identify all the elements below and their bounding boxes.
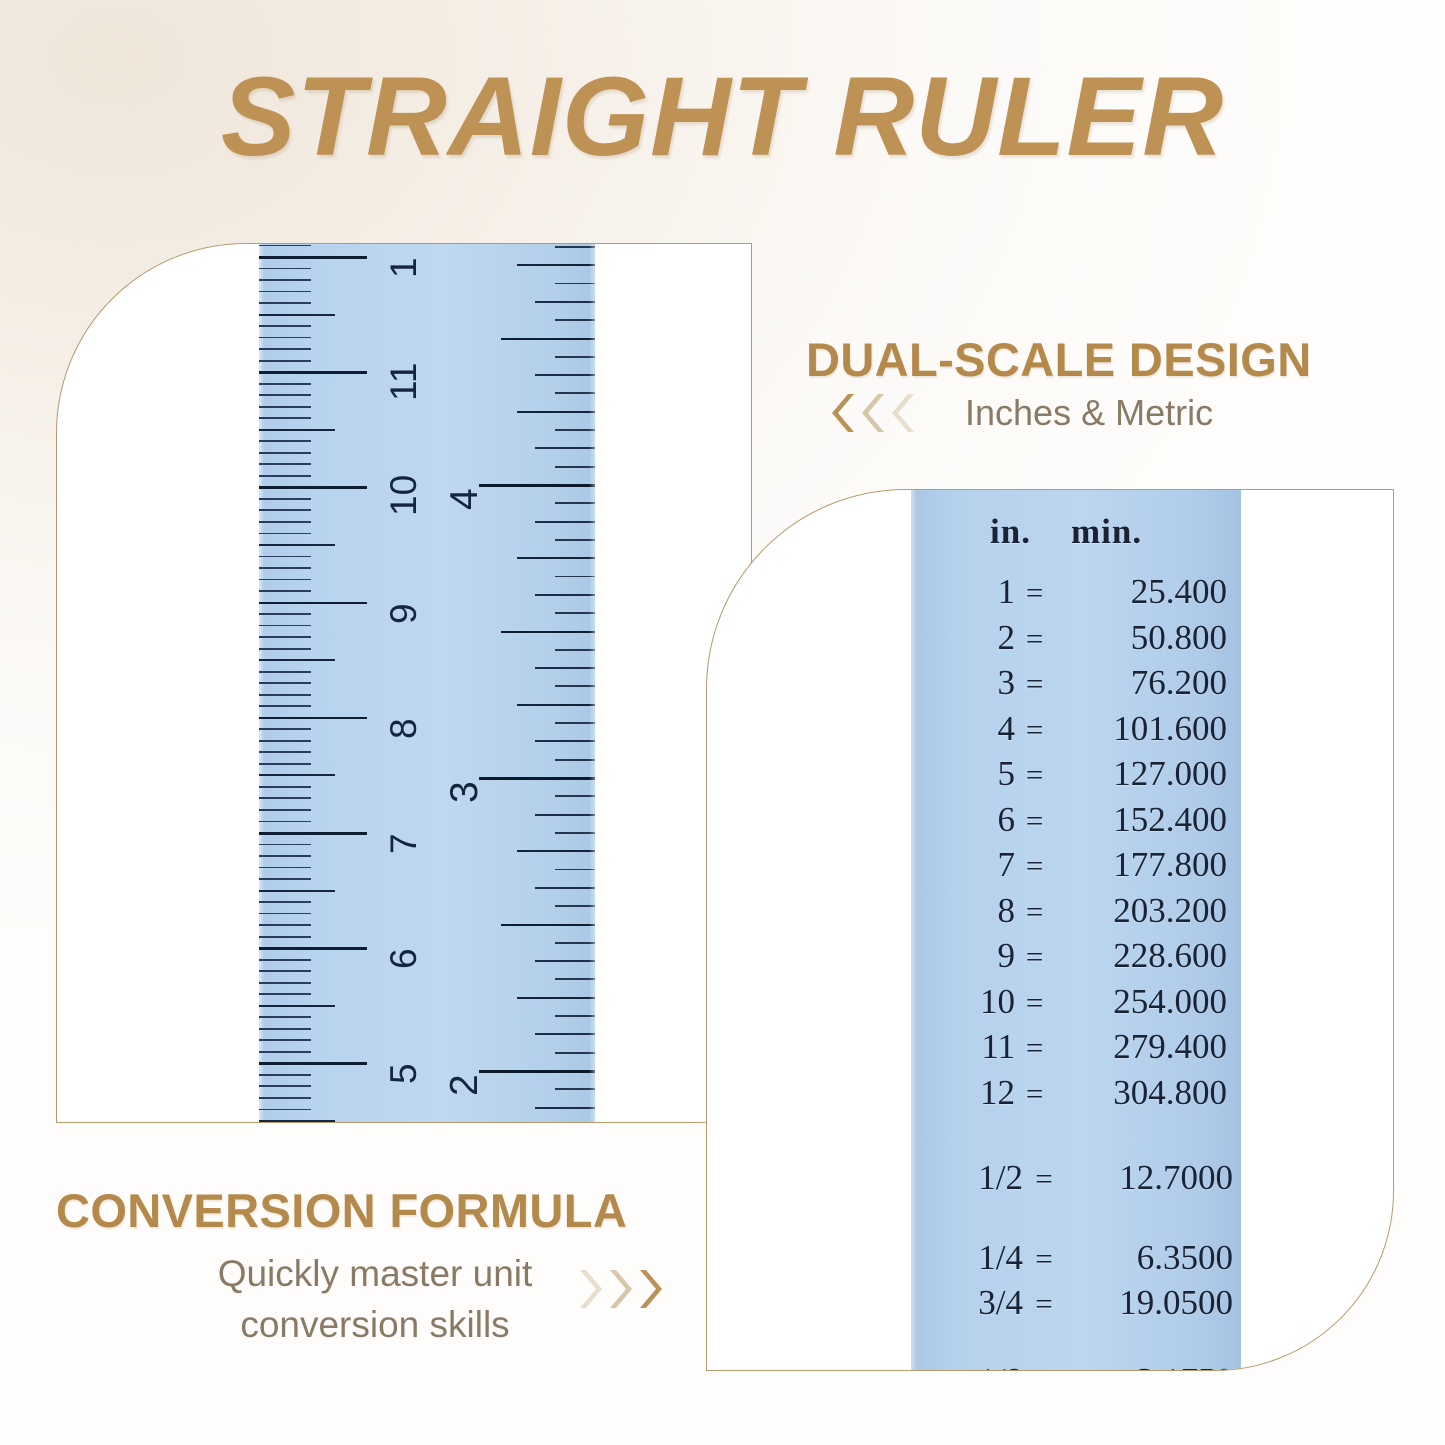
ruler-tick-mm	[259, 498, 311, 500]
ruler-tick-mm	[259, 682, 311, 684]
ruler-tick-inch-fraction	[535, 1033, 595, 1035]
ruler-tick-inch	[479, 484, 595, 487]
cell-millimetres: 279.400	[1054, 1027, 1241, 1067]
ruler-tick-inch-fraction	[517, 264, 595, 266]
dual-scale-subheading: Inches & Metric	[965, 392, 1213, 434]
ruler-tick-inch-fraction	[535, 594, 595, 596]
ruler-tick-mm	[259, 982, 311, 984]
table-row: 12=304.800	[911, 1073, 1241, 1113]
ruler-number-cm: 1	[383, 257, 425, 278]
cell-equals: =	[1015, 803, 1054, 839]
ruler-tick-mm	[259, 970, 311, 972]
ruler-tick-inch-fraction	[555, 576, 595, 578]
table-row: 4=101.600	[911, 709, 1241, 749]
ruler-tick-inch-fraction	[555, 832, 595, 834]
ruler-tick-mm	[259, 648, 311, 650]
ruler-tick-mm	[259, 936, 311, 938]
ruler-tick-mm	[259, 694, 311, 696]
cell-millimetres: 203.200	[1054, 891, 1241, 931]
ruler-tick-mm	[259, 452, 311, 454]
ruler-tick-mm	[259, 763, 311, 765]
ruler-tick-cm	[259, 717, 367, 720]
chevron-right-icon-group	[572, 1268, 662, 1310]
chevron-right-icon	[572, 1268, 602, 1310]
ruler-tick-5mm	[259, 544, 335, 546]
ruler-tick-5mm	[259, 1005, 335, 1007]
cell-millimetres: 152.400	[1054, 800, 1241, 840]
ruler-tick-mm	[259, 360, 311, 362]
cell-equals: =	[1015, 712, 1054, 748]
cell-equals: =	[1015, 575, 1054, 611]
ruler-tick-mm	[259, 567, 311, 569]
ruler-tick-inch-fraction	[555, 759, 595, 761]
ruler-tick-inch-fraction	[535, 814, 595, 816]
ruler-tick-cm	[259, 1062, 367, 1065]
ruler-tick-inch-fraction	[535, 960, 595, 962]
table-row: 1/8=3.1750	[911, 1361, 1241, 1372]
ruler-tick-inch-fraction	[535, 301, 595, 303]
ruler-tick-5mm	[259, 429, 335, 431]
cell-millimetres: 254.000	[1054, 982, 1241, 1022]
ruler-number-cm: 8	[383, 718, 425, 739]
ruler-tick-inch-fraction	[555, 978, 595, 980]
ruler-tick-inch-fraction	[517, 411, 595, 413]
ruler-tick-inch-fraction	[535, 740, 595, 742]
table-row: 5=127.000	[911, 754, 1241, 794]
ruler-tick-mm	[259, 279, 311, 281]
ruler-tick-inch-fraction	[555, 429, 595, 431]
ruler-tick-inch-fraction	[517, 557, 595, 559]
ruler-tick-inch-fraction	[501, 924, 595, 926]
cell-equals: =	[1015, 1030, 1054, 1066]
ruler-tick-mm	[259, 417, 311, 419]
cell-inches: 2	[911, 618, 1015, 658]
cell-inches: 3/4	[911, 1283, 1023, 1323]
ruler-tick-inch-fraction	[535, 1107, 595, 1109]
ruler-tick-5mm	[259, 890, 335, 892]
ruler-number-cm: 10	[383, 475, 425, 516]
cell-equals: =	[1015, 894, 1054, 930]
ruler-tick-inch-fraction	[555, 466, 595, 468]
table-row: 1/2=12.7000	[911, 1158, 1241, 1198]
cell-equals: =	[1015, 939, 1054, 975]
ruler-tick-mm	[259, 348, 311, 350]
cell-equals: =	[1015, 666, 1054, 702]
ruler-tick-inch-fraction	[555, 942, 595, 944]
ruler-tick-mm	[259, 245, 311, 247]
table-row: 3=76.200	[911, 663, 1241, 703]
table-row: 3/4=19.0500	[911, 1283, 1241, 1323]
cell-equals: =	[1023, 1286, 1065, 1322]
ruler-tick-inch-fraction	[555, 1088, 595, 1090]
infographic-canvas: STRAIGHT RULER 1111098765432 in.min.1=25…	[0, 0, 1445, 1445]
ruler-tick-inch-fraction	[535, 374, 595, 376]
ruler-tick-mm	[259, 901, 311, 903]
ruler-tick-inch-fraction	[555, 795, 595, 797]
ruler-tick-inch-fraction	[535, 447, 595, 449]
ruler-number-cm: 6	[383, 949, 425, 970]
cell-millimetres: 304.800	[1054, 1073, 1241, 1113]
cell-millimetres: 12.7000	[1065, 1158, 1241, 1198]
ruler-tick-mm	[259, 406, 311, 408]
cell-millimetres: 3.1750	[1065, 1361, 1241, 1372]
table-row: 2=50.800	[911, 618, 1241, 658]
ruler-tick-inch-fraction	[555, 539, 595, 541]
ruler-tick-inch-fraction	[555, 612, 595, 614]
ruler-tick-mm	[259, 1039, 311, 1041]
ruler-tick-mm	[259, 797, 311, 799]
ruler-number-cm: 9	[383, 603, 425, 624]
cell-equals: =	[1015, 757, 1054, 793]
ruler-tick-mm	[259, 613, 311, 615]
ruler-tick-inch-fraction	[555, 905, 595, 907]
table-row: 10=254.000	[911, 982, 1241, 1022]
column-header-mm: min.	[1067, 512, 1235, 552]
ruler-number-cm: 11	[383, 363, 425, 401]
ruler-tick-mm	[259, 855, 311, 857]
ruler-tick-mm	[259, 579, 311, 581]
ruler-tick-mm	[259, 728, 311, 730]
ruler-tick-mm	[259, 302, 311, 304]
cell-inches: 1/2	[911, 1158, 1023, 1198]
ruler-tick-mm	[259, 383, 311, 385]
ruler-tick-mm	[259, 867, 311, 869]
cell-millimetres: 127.000	[1054, 754, 1241, 794]
cell-inches: 10	[911, 982, 1015, 1022]
cell-inches: 4	[911, 709, 1015, 749]
ruler-tick-cm	[259, 256, 367, 259]
ruler-tick-inch-fraction	[535, 521, 595, 523]
ruler-tick-mm	[259, 1109, 311, 1111]
ruler-tick-mm	[259, 440, 311, 442]
cell-millimetres: 19.0500	[1065, 1283, 1241, 1323]
cell-inches: 9	[911, 936, 1015, 976]
ruler-tick-mm	[259, 1097, 311, 1099]
ruler-tick-mm	[259, 786, 311, 788]
ruler-photo-card: 1111098765432	[56, 243, 752, 1123]
ruler-tick-inch-fraction	[501, 338, 595, 340]
conversion-formula-subheading-line: Quickly master unit	[140, 1248, 610, 1299]
ruler-tick-mm	[259, 1051, 311, 1053]
ruler-tick-inch	[479, 1070, 595, 1073]
table-row: 1=25.400	[911, 572, 1241, 612]
ruler-tick-mm	[259, 844, 311, 846]
ruler-tick-mm	[259, 959, 311, 961]
ruler-number-inch: 2	[443, 1074, 487, 1096]
ruler-tick-mm	[259, 751, 311, 753]
ruler-tick-mm	[259, 913, 311, 915]
cell-inches: 5	[911, 754, 1015, 794]
ruler-tick-inch-fraction	[555, 722, 595, 724]
ruler-tick-mm	[259, 1028, 311, 1030]
ruler-tick-inch-fraction	[555, 392, 595, 394]
ruler-tick-mm	[259, 809, 311, 811]
ruler-tick-cm	[259, 602, 367, 605]
ruler-tick-5mm	[259, 774, 335, 776]
ruler-tick-mm	[259, 337, 311, 339]
ruler-tick-inch-fraction	[555, 502, 595, 504]
cell-equals: =	[1015, 1076, 1054, 1112]
ruler-tick-inch-fraction	[555, 246, 595, 248]
conversion-formula-subheading-line: conversion skills	[140, 1299, 610, 1350]
cell-inches: 11	[911, 1027, 1015, 1067]
ruler-tick-inch-fraction	[501, 631, 595, 633]
cell-equals: =	[1023, 1364, 1065, 1372]
chevron-left-icon	[826, 392, 856, 434]
cell-inches: 1/4	[911, 1238, 1023, 1278]
ruler-tick-mm	[259, 671, 311, 673]
ruler-tick-mm	[259, 291, 311, 293]
conversion-table: in.min.1=25.4002=50.8003=76.2004=101.600…	[911, 490, 1241, 1371]
table-row: 9=228.600	[911, 936, 1241, 976]
ruler-tick-mm	[259, 1016, 311, 1018]
ruler-tick-mm	[259, 1074, 311, 1076]
ruler-tick-inch-fraction	[555, 1052, 595, 1054]
ruler-tick-mm	[259, 475, 311, 477]
chevron-left-icon	[886, 392, 916, 434]
cell-millimetres: 177.800	[1054, 845, 1241, 885]
cell-equals: =	[1023, 1161, 1065, 1197]
chevron-left-icon-group	[826, 392, 916, 434]
ruler-tick-inch-fraction	[535, 667, 595, 669]
page-title: STRAIGHT RULER	[0, 52, 1445, 181]
conversion-table-card: in.min.1=25.4002=50.8003=76.2004=101.600…	[706, 489, 1394, 1371]
ruler-tick-inch-fraction	[517, 997, 595, 999]
cell-inches: 12	[911, 1073, 1015, 1113]
ruler-tick-mm	[259, 821, 311, 823]
ruler-tick-mm	[259, 521, 311, 523]
cell-equals: =	[1015, 848, 1054, 884]
column-header-inches: in.	[911, 512, 1031, 552]
cell-inches: 8	[911, 891, 1015, 931]
ruler-tick-mm	[259, 509, 311, 511]
table-row: 11=279.400	[911, 1027, 1241, 1067]
cell-inches: 1	[911, 572, 1015, 612]
conversion-strip: in.min.1=25.4002=50.8003=76.2004=101.600…	[911, 490, 1241, 1371]
ruler-tick-5mm	[259, 659, 335, 661]
ruler-number-inch: 4	[443, 488, 487, 510]
ruler-tick-inch-fraction	[555, 356, 595, 358]
table-header-row: in.min.	[911, 512, 1241, 552]
ruler-tick-cm	[259, 486, 367, 489]
cell-millimetres: 228.600	[1054, 936, 1241, 976]
ruler-tick-mm	[259, 394, 311, 396]
cell-inches: 6	[911, 800, 1015, 840]
ruler-tick-inch-fraction	[555, 869, 595, 871]
ruler-tick-inch-fraction	[555, 685, 595, 687]
ruler-tick-mm	[259, 625, 311, 627]
ruler-tick-mm	[259, 993, 311, 995]
ruler-tick-inch-fraction	[555, 319, 595, 321]
chevron-right-icon	[632, 1268, 662, 1310]
cell-millimetres: 101.600	[1054, 709, 1241, 749]
ruler-tick-inch-fraction	[555, 1015, 595, 1017]
cell-equals: =	[1015, 985, 1054, 1021]
ruler-tick-cm	[259, 371, 367, 374]
ruler-body: 1111098765432	[259, 244, 595, 1123]
ruler-tick-mm	[259, 878, 311, 880]
ruler-tick-inch	[479, 777, 595, 780]
cell-millimetres: 50.800	[1054, 618, 1241, 658]
ruler-tick-inch-fraction	[517, 850, 595, 852]
table-row: 8=203.200	[911, 891, 1241, 931]
ruler-tick-5mm	[259, 1120, 335, 1122]
ruler-tick-mm	[259, 740, 311, 742]
ruler-tick-5mm	[259, 314, 335, 316]
ruler-tick-mm	[259, 924, 311, 926]
ruler-tick-mm	[259, 463, 311, 465]
ruler-tick-mm	[259, 325, 311, 327]
ruler-tick-cm	[259, 832, 367, 835]
ruler-tick-mm	[259, 1085, 311, 1087]
chevron-right-icon	[602, 1268, 632, 1310]
ruler-number-inch: 3	[443, 781, 487, 803]
ruler-number-cm: 7	[383, 833, 425, 854]
cell-inches: 1/8	[911, 1361, 1023, 1372]
table-row: 1/4=6.3500	[911, 1238, 1241, 1278]
cell-equals: =	[1023, 1241, 1065, 1277]
table-row: 6=152.400	[911, 800, 1241, 840]
conversion-formula-heading: CONVERSION FORMULA	[56, 1183, 627, 1238]
conversion-formula-subheading: Quickly master unitconversion skills	[140, 1248, 610, 1350]
dual-scale-heading: DUAL-SCALE DESIGN	[806, 332, 1312, 387]
ruler-number-cm: 5	[383, 1064, 425, 1085]
ruler-tick-cm	[259, 947, 367, 950]
ruler-tick-inch-fraction	[555, 283, 595, 285]
ruler-tick-inch-fraction	[517, 704, 595, 706]
cell-inches: 7	[911, 845, 1015, 885]
table-row: 7=177.800	[911, 845, 1241, 885]
cell-millimetres: 76.200	[1054, 663, 1241, 703]
ruler-tick-mm	[259, 556, 311, 558]
chevron-left-icon	[856, 392, 886, 434]
ruler-tick-mm	[259, 268, 311, 270]
ruler-tick-inch-fraction	[555, 649, 595, 651]
ruler-tick-mm	[259, 533, 311, 535]
cell-equals: =	[1015, 621, 1054, 657]
ruler-tick-mm	[259, 705, 311, 707]
cell-millimetres: 25.400	[1054, 572, 1241, 612]
cell-inches: 3	[911, 663, 1015, 703]
ruler-tick-inch-fraction	[535, 887, 595, 889]
ruler-tick-mm	[259, 590, 311, 592]
cell-millimetres: 6.3500	[1065, 1238, 1241, 1278]
ruler-tick-mm	[259, 636, 311, 638]
